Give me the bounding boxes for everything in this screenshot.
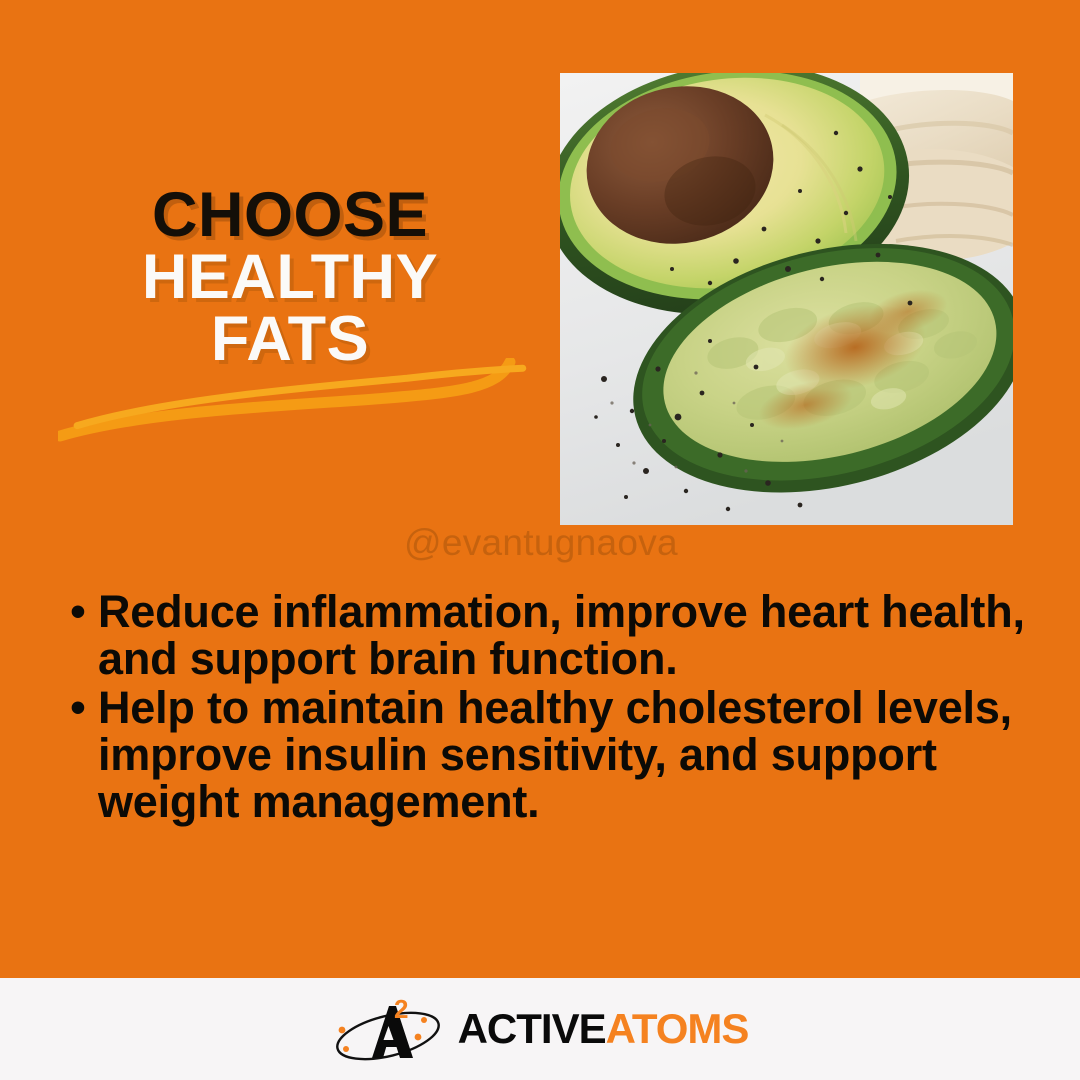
title-line-3: FATS — [60, 310, 520, 370]
watermark-handle: @evantugnaova — [404, 522, 678, 564]
list-item-text: Reduce inflammation, improve heart healt… — [98, 588, 1038, 682]
bullet-marker-icon: • — [58, 588, 98, 635]
logo-exponent-text: 2 — [394, 996, 408, 1024]
brand-wordmark: ACTIVEATOMS — [458, 1008, 749, 1050]
bullet-marker-icon: • — [58, 684, 98, 731]
title-line-1: CHOOSE — [60, 186, 520, 246]
benefits-list: • Reduce inflammation, improve heart hea… — [58, 588, 1038, 827]
list-item-text: Help to maintain healthy cholesterol lev… — [98, 684, 1038, 825]
brand-word-active: ACTIVE — [458, 1005, 606, 1052]
poster-canvas: CHOOSE HEALTHY FATS — [0, 0, 1080, 1080]
list-item: • Reduce inflammation, improve heart hea… — [58, 588, 1038, 682]
list-item: • Help to maintain healthy cholesterol l… — [58, 684, 1038, 825]
title-line-2: HEALTHY — [60, 248, 520, 308]
brand-word-atoms: ATOMS — [606, 1005, 749, 1052]
atom-logo-icon: 2 — [332, 996, 444, 1062]
poster-title: CHOOSE HEALTHY FATS — [60, 186, 520, 372]
avocado-photo — [560, 73, 1013, 525]
footer-bar: 2 ACTIVEATOMS — [0, 978, 1080, 1080]
avocado-photo-illustration — [560, 73, 1013, 525]
brand-logo: 2 ACTIVEATOMS — [332, 996, 749, 1062]
